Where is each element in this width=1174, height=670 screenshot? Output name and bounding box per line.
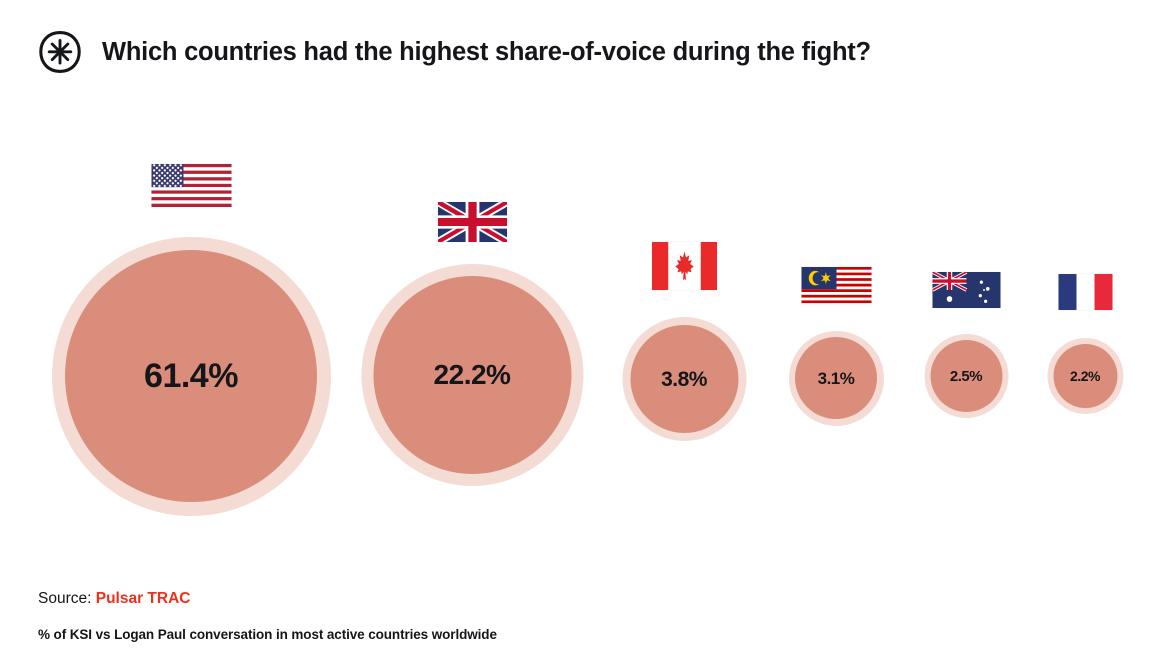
bubble-outer-ring: 3.1% (789, 331, 884, 426)
bubble-item[interactable]: 2.2% (1085, 0, 1086, 670)
bubble-inner-disc: 61.4% (65, 250, 317, 502)
bubble-value-label: 3.1% (818, 370, 855, 387)
flag-australia-icon (932, 272, 1000, 308)
bubble-item[interactable]: 3.8% (684, 0, 685, 670)
chart-caption: % of KSI vs Logan Paul conversation in m… (38, 627, 497, 642)
bubble-chart: 61.4% 22.2% 3.8% 3.1% (0, 0, 1174, 670)
bubble-inner-disc: 22.2% (373, 276, 571, 474)
bubble-value-label: 2.5% (950, 369, 982, 384)
bubble-value-label: 22.2% (434, 361, 511, 389)
flag-usa-icon (151, 164, 231, 207)
footer: Source: Pulsar TRAC % of KSI vs Logan Pa… (38, 590, 497, 642)
source-line: Source: Pulsar TRAC (38, 590, 497, 608)
flag-uk-icon (438, 202, 507, 242)
flag-canada-icon (652, 242, 717, 290)
bubble-outer-ring: 3.8% (622, 317, 746, 441)
bubble-outer-ring: 22.2% (361, 264, 583, 486)
bubble-inner-disc: 3.8% (630, 325, 738, 433)
flag-france-icon (1058, 274, 1112, 310)
bubble-value-label: 2.2% (1070, 369, 1100, 383)
bubble-outer-ring: 61.4% (52, 237, 331, 516)
bubble-value-label: 3.8% (661, 369, 707, 390)
bubble-item[interactable]: 61.4% (191, 0, 192, 670)
bubble-item[interactable]: 22.2% (472, 0, 473, 670)
bubble-inner-disc: 2.2% (1053, 344, 1117, 408)
flag-malaysia-icon (801, 267, 871, 306)
bubble-item[interactable]: 2.5% (966, 0, 967, 670)
bubble-outer-ring: 2.2% (1047, 338, 1123, 414)
bubble-outer-ring: 2.5% (924, 334, 1008, 418)
bubble-value-label: 61.4% (144, 359, 238, 393)
bubble-item[interactable]: 3.1% (836, 0, 837, 670)
source-name-link[interactable]: Pulsar TRAC (96, 590, 191, 607)
bubble-inner-disc: 2.5% (930, 340, 1002, 412)
source-label: Source: (38, 590, 91, 607)
bubble-inner-disc: 3.1% (795, 337, 877, 419)
